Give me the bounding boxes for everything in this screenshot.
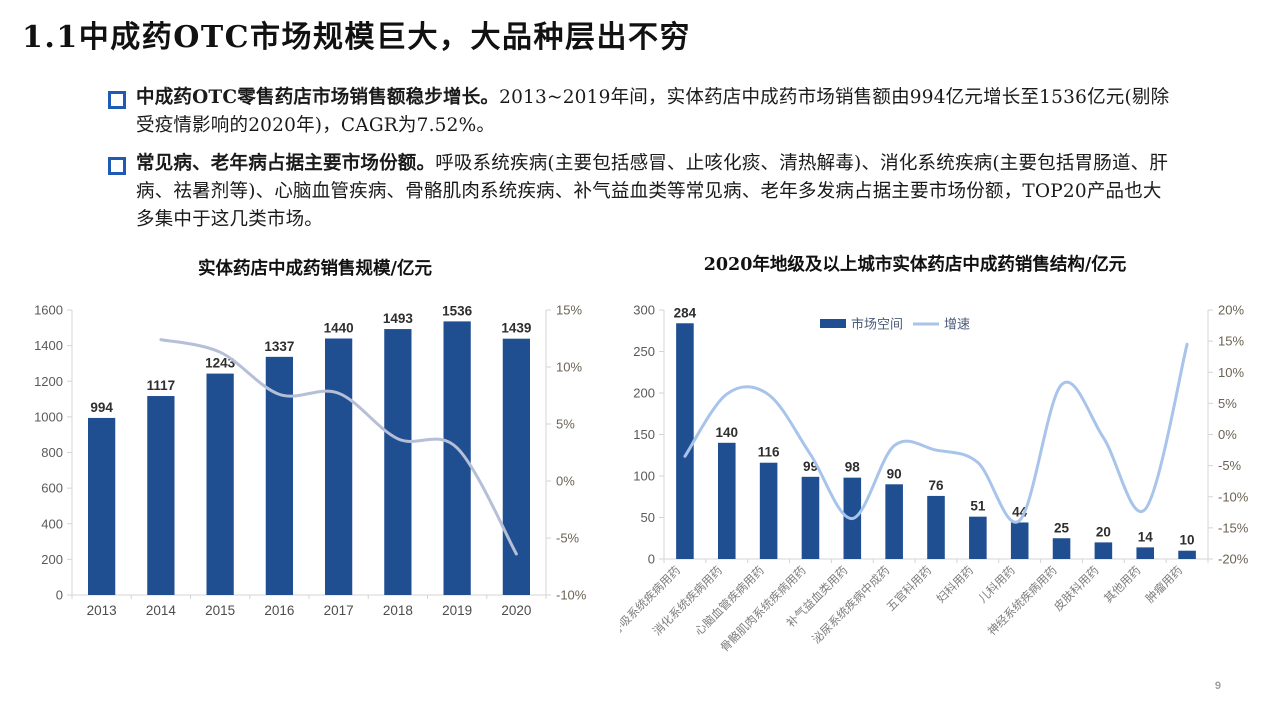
- bar: [88, 418, 115, 595]
- bar-value-label: 116: [758, 445, 780, 460]
- bar: [503, 339, 530, 595]
- bar: [927, 496, 945, 559]
- bar-value-label: 284: [674, 305, 697, 320]
- y-tick-label-left: 250: [633, 344, 655, 359]
- bullet-text: 常见病、老年病占据主要市场份额。呼吸系统疾病(主要包括感冒、止咳化痰、清热解毒)…: [136, 150, 1178, 234]
- y-tick-label-left: 1400: [34, 338, 63, 353]
- legend-label-bar: 市场空间: [851, 317, 903, 332]
- bar: [1095, 542, 1113, 559]
- chart-left-title: 实体药店中成药销售规模/亿元: [150, 255, 480, 280]
- x-axis-label: 2018: [383, 603, 413, 618]
- y-tick-label-right: 10%: [556, 360, 582, 375]
- x-axis-label: 消化系统疾病用药: [650, 563, 725, 638]
- bar-value-label: 994: [90, 400, 113, 415]
- y-tick-label-right: -10%: [556, 588, 587, 603]
- x-axis-label: 肿瘤用药: [1143, 563, 1185, 605]
- x-axis-label: 骨骼肌肉系统疾病用药: [717, 563, 808, 654]
- bar-value-label: 14: [1138, 529, 1154, 544]
- x-axis-label: 2015: [205, 603, 235, 618]
- x-axis-label: 皮肤科用药: [1051, 563, 1102, 614]
- bar-value-label: 1439: [501, 321, 531, 336]
- bar: [1178, 551, 1196, 559]
- chart-right-title: 2020年地级及以上城市实体药店中成药销售结构/亿元: [665, 253, 1165, 278]
- bar-value-label: 98: [845, 460, 861, 475]
- x-axis-label: 2019: [442, 603, 472, 618]
- bar-value-label: 1117: [147, 378, 176, 393]
- y-tick-label-right: -5%: [1218, 458, 1242, 473]
- y-tick-label-left: 1000: [34, 409, 63, 424]
- bar: [206, 374, 233, 595]
- x-axis-label: 2013: [87, 603, 117, 618]
- bar-value-label: 25: [1054, 520, 1070, 535]
- y-tick-label-left: 0: [56, 588, 63, 603]
- bar-value-label: 1337: [264, 339, 294, 354]
- bar-value-label: 1536: [442, 303, 473, 318]
- y-tick-label-left: 150: [633, 427, 655, 442]
- y-tick-label-left: 1200: [34, 374, 63, 389]
- y-tick-label-right: 0%: [1218, 427, 1237, 442]
- x-axis-label: 五官科用药: [884, 563, 935, 614]
- y-tick-label-right: 20%: [1218, 303, 1244, 318]
- bar-value-label: 140: [716, 425, 739, 440]
- bar: [718, 443, 736, 559]
- legend-swatch-bar: [820, 319, 846, 328]
- x-axis-label: 神经系统疾病用药: [985, 563, 1060, 638]
- y-tick-label-left: 400: [41, 516, 63, 531]
- x-axis-label: 心脑血管疾病用药: [692, 563, 767, 638]
- bar-value-label: 20: [1096, 524, 1111, 539]
- y-tick-label-right: 0%: [556, 474, 575, 489]
- chart-right-svg: 050100150200250300-20%-15%-10%-5%0%5%10%…: [620, 296, 1278, 671]
- y-tick-label-right: 5%: [556, 417, 575, 432]
- legend-label-line: 增速: [944, 317, 970, 332]
- y-tick-label-left: 1600: [34, 303, 63, 318]
- y-tick-label-left: 600: [41, 481, 63, 496]
- page-title: 1.1中成药OTC市场规模巨大，大品种层出不穷: [22, 12, 691, 56]
- bullet-list: 中成药OTC零售药店市场销售额稳步增长。2013~2019年间，实体药店中成药市…: [108, 84, 1178, 244]
- x-axis-label: 2020: [501, 603, 531, 618]
- y-tick-label-right: -20%: [1218, 552, 1249, 567]
- x-axis-label: 其他用药: [1102, 564, 1144, 606]
- y-tick-label-right: 10%: [1218, 365, 1244, 380]
- bar-value-label: 1440: [324, 321, 354, 336]
- y-tick-label-right: 15%: [556, 303, 582, 318]
- bar: [802, 477, 820, 559]
- bullet-lead: 中成药OTC零售药店市场销售额稳步增长。: [136, 87, 499, 108]
- bar: [325, 339, 352, 596]
- bar: [266, 357, 293, 595]
- y-tick-label-right: 15%: [1218, 334, 1244, 349]
- y-tick-label-left: 200: [41, 552, 63, 567]
- bullet-text: 中成药OTC零售药店市场销售额稳步增长。2013~2019年间，实体药店中成药市…: [136, 84, 1178, 140]
- chart-left: 02004006008001000120014001600-10%-5%0%5%…: [18, 296, 608, 641]
- x-axis-label: 儿科用药: [975, 563, 1017, 605]
- bar: [384, 329, 411, 595]
- bar: [1011, 522, 1029, 559]
- bar-value-label: 1493: [383, 311, 414, 326]
- bar-value-label: 51: [970, 499, 986, 514]
- bar: [760, 463, 778, 559]
- bar: [147, 396, 174, 595]
- x-axis-label: 2017: [324, 603, 354, 618]
- bar: [1053, 538, 1071, 559]
- x-axis-label: 呼吸系统疾病用药: [620, 563, 683, 638]
- y-tick-label-left: 300: [633, 303, 655, 318]
- chart-right: 050100150200250300-20%-15%-10%-5%0%5%10%…: [620, 296, 1278, 671]
- x-axis-label: 泌尿系统疾病中成药: [809, 563, 892, 646]
- bullet-lead: 常见病、老年病占据主要市场份额。: [136, 153, 435, 174]
- x-axis-label: 妇科用药: [934, 563, 976, 605]
- list-item: 中成药OTC零售药店市场销售额稳步增长。2013~2019年间，实体药店中成药市…: [108, 84, 1178, 140]
- y-tick-label-left: 50: [641, 510, 655, 525]
- page-number: 9: [1215, 680, 1221, 692]
- y-tick-label-left: 800: [41, 445, 63, 460]
- bar: [1136, 547, 1154, 559]
- bar: [676, 323, 694, 559]
- x-axis-label: 2016: [264, 603, 294, 618]
- bar-value-label: 90: [887, 466, 902, 481]
- y-tick-label-left: 100: [633, 469, 655, 484]
- x-axis-label: 2014: [146, 603, 177, 618]
- y-tick-label-left: 0: [648, 552, 655, 567]
- bar: [885, 484, 903, 559]
- bar-value-label: 76: [928, 478, 944, 493]
- bar: [969, 517, 987, 559]
- bullet-square-icon: [108, 91, 126, 109]
- y-tick-label-left: 200: [633, 386, 655, 401]
- bullet-square-icon: [108, 157, 126, 175]
- list-item: 常见病、老年病占据主要市场份额。呼吸系统疾病(主要包括感冒、止咳化痰、清热解毒)…: [108, 150, 1178, 234]
- bar-value-label: 10: [1180, 533, 1195, 548]
- y-tick-label-right: 5%: [1218, 396, 1237, 411]
- chart-legend: 市场空间增速: [820, 317, 970, 332]
- y-tick-label-right: -5%: [556, 531, 580, 546]
- chart-left-svg: 02004006008001000120014001600-10%-5%0%5%…: [18, 296, 608, 641]
- y-tick-label-right: -15%: [1218, 520, 1249, 535]
- y-tick-label-right: -10%: [1218, 489, 1249, 504]
